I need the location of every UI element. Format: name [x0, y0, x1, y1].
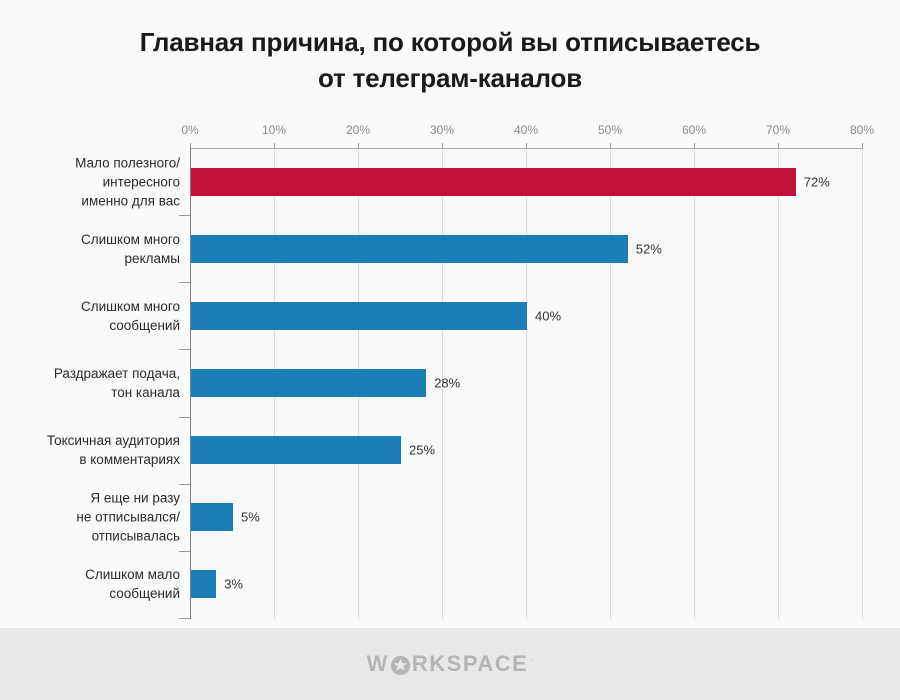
x-tick-label: 10% [262, 123, 286, 137]
logo-trademark: ˙ [530, 659, 533, 669]
footer-bar: W RKSPACE ˙ [0, 628, 900, 700]
x-tick-label: 0% [181, 123, 198, 137]
bar-value-label: 40% [535, 308, 561, 323]
bar[interactable] [191, 436, 401, 464]
bar-row: Слишком многосообщений40% [0, 282, 900, 349]
category-label-line: Слишком много [0, 297, 180, 316]
x-tick-label: 20% [346, 123, 370, 137]
bar[interactable] [191, 235, 628, 263]
workspace-logo: W RKSPACE ˙ [367, 651, 534, 677]
category-label: Слишком малосообщений [0, 565, 180, 603]
category-label-line: Слишком мало [0, 565, 180, 584]
bar[interactable] [191, 369, 426, 397]
star-in-circle-icon [390, 655, 411, 676]
bar-value-label: 3% [224, 577, 243, 592]
bar-value-label: 5% [241, 510, 260, 525]
bar-track: 40% [191, 302, 863, 330]
category-label-line: интересного [0, 172, 180, 191]
category-label-line: тон канала [0, 383, 180, 402]
bar-chart: 0%10%20%30%40%50%60%70%80% Мало полезног… [0, 0, 900, 628]
category-label: Токсичная аудиторияв комментариях [0, 431, 180, 469]
bar-track: 3% [191, 570, 863, 598]
category-label: Слишком многосообщений [0, 297, 180, 335]
bar-value-label: 28% [434, 375, 460, 390]
category-label-line: в комментариях [0, 450, 180, 469]
bar-row: Я еще ни разуне отписывался/отписывалась… [0, 484, 900, 551]
category-label-line: рекламы [0, 249, 180, 268]
chart-page: Главная причина, по которой вы отписывае… [0, 0, 900, 700]
category-label-line: отписывалась [0, 527, 180, 546]
category-label-line: сообщений [0, 584, 180, 603]
bar-row: Слишком малосообщений3% [0, 551, 900, 618]
x-tick-label: 70% [766, 123, 790, 137]
x-tick-label: 50% [598, 123, 622, 137]
logo-text-part-2: RKSPACE [412, 651, 528, 677]
bar-row: Токсичная аудиторияв комментариях25% [0, 417, 900, 484]
bar-value-label: 52% [636, 241, 662, 256]
category-label: Я еще ни разуне отписывался/отписывалась [0, 489, 180, 546]
logo-text-part-1: W [367, 651, 389, 677]
bar-row: Мало полезного/интересногоименно для вас… [0, 148, 900, 215]
category-label-line: Токсичная аудитория [0, 431, 180, 450]
category-label-line: именно для вас [0, 191, 180, 210]
bar[interactable] [191, 503, 233, 531]
category-label-line: не отписывался/ [0, 508, 180, 527]
bar-value-label: 25% [409, 443, 435, 458]
bar-track: 72% [191, 168, 863, 196]
bar-row: Слишком многорекламы52% [0, 215, 900, 282]
bar-track: 52% [191, 235, 863, 263]
x-tick-label: 80% [850, 123, 874, 137]
bar[interactable] [191, 168, 796, 196]
x-tick-label: 30% [430, 123, 454, 137]
category-label: Раздражает подача,тон канала [0, 364, 180, 402]
category-label-line: Мало полезного/ [0, 153, 180, 172]
bar-track: 28% [191, 369, 863, 397]
category-label-line: сообщений [0, 316, 180, 335]
bar-value-label: 72% [804, 174, 830, 189]
category-label-line: Слишком много [0, 230, 180, 249]
bar-track: 25% [191, 436, 863, 464]
bar-track: 5% [191, 503, 863, 531]
category-label: Слишком многорекламы [0, 230, 180, 268]
y-axis-bottom-tick [179, 618, 190, 619]
category-label-line: Раздражает подача, [0, 364, 180, 383]
x-tick-label: 60% [682, 123, 706, 137]
x-tick-label: 40% [514, 123, 538, 137]
bar[interactable] [191, 570, 216, 598]
category-label: Мало полезного/интересногоименно для вас [0, 153, 180, 210]
bar-row: Раздражает подача,тон канала28% [0, 349, 900, 416]
bar[interactable] [191, 302, 527, 330]
category-label-line: Я еще ни разу [0, 489, 180, 508]
